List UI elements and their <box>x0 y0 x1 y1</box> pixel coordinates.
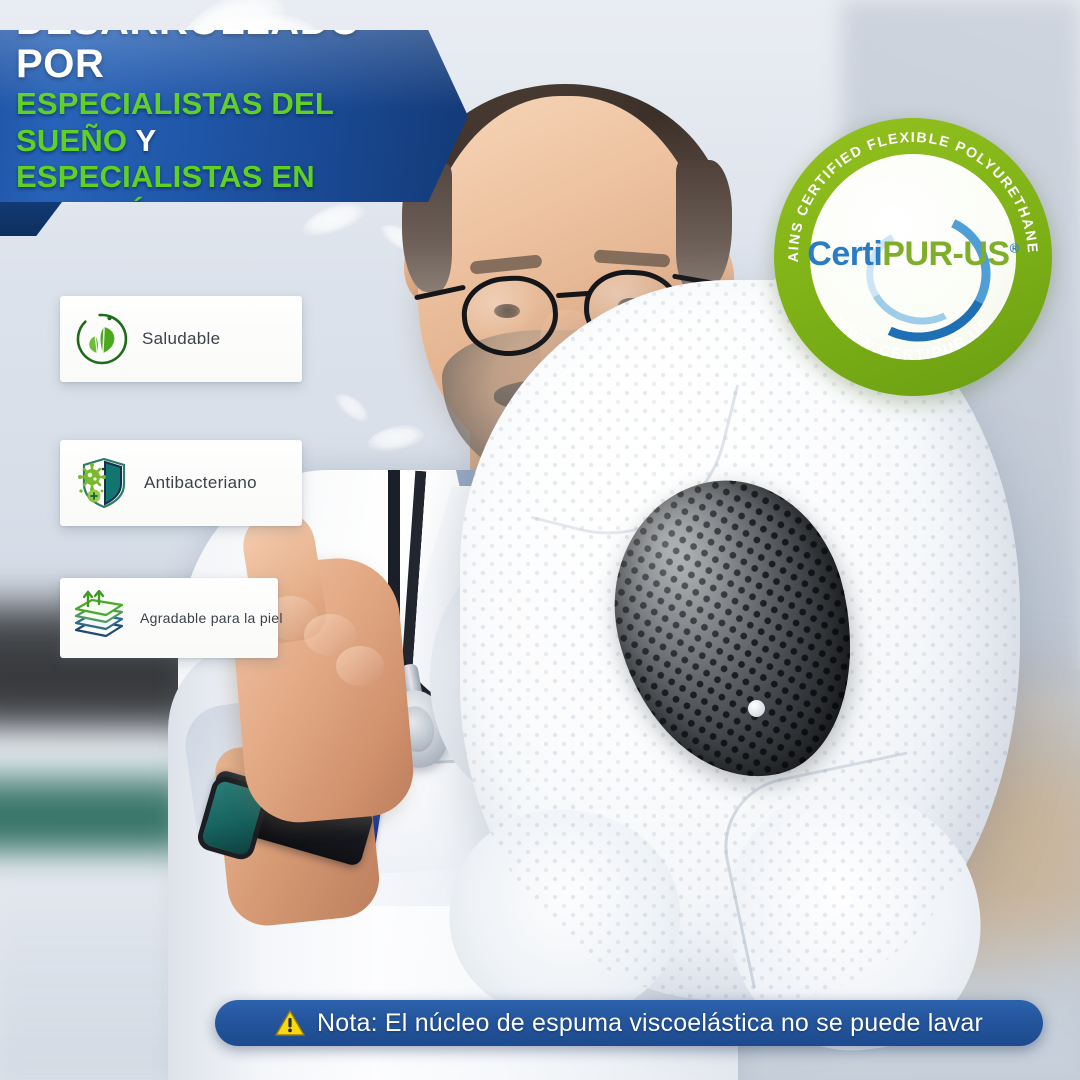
feature-card-saludable[interactable]: Saludable <box>60 296 302 382</box>
shield-germ-icon <box>72 453 132 513</box>
badge-logo: CertiPUR-US® <box>774 118 1052 396</box>
warning-note-text: Nota: El núcleo de espuma viscoelástica … <box>317 1009 983 1038</box>
warning-triangle-icon <box>275 1009 305 1037</box>
headline-banner: DESARROLLADO POR ESPECIALISTAS DEL SUEÑO… <box>0 30 468 202</box>
feature-label-antibacteriano: Antibacteriano <box>144 473 257 493</box>
advertisement-canvas: DESARROLLADO POR ESPECIALISTAS DEL SUEÑO… <box>0 0 1080 1080</box>
knuckle <box>336 646 384 686</box>
badge-brand-prefix: Certi <box>807 235 882 273</box>
banner-line-2: ESPECIALISTAS DEL SUEÑO Y <box>16 86 410 159</box>
fabric-layers-icon <box>70 590 132 646</box>
leaf-circle-icon <box>74 311 130 367</box>
feature-card-agradable-piel[interactable]: Agradable para la piel <box>60 578 278 658</box>
badge-registered-mark: ® <box>1010 240 1019 255</box>
certipur-us-badge: CONTAINS CERTIFIED FLEXIBLE POLYURETHANE… <box>774 118 1052 396</box>
badge-brand-suffix: PUR-US <box>882 235 1009 273</box>
feature-card-antibacteriano[interactable]: Antibacteriano <box>60 440 302 526</box>
banner-line-2-conjunction: Y <box>136 123 157 158</box>
mesh-center-dot <box>748 700 765 717</box>
banner-line-2-green: ESPECIALISTAS DEL SUEÑO <box>16 86 333 158</box>
badge-brand-name: CertiPUR-US® <box>807 235 1018 274</box>
warning-note-bar: Nota: El núcleo de espuma viscoelástica … <box>215 1000 1043 1046</box>
feature-label-saludable: Saludable <box>142 329 220 349</box>
feature-label-agradable-piel: Agradable para la piel <box>140 610 283 626</box>
